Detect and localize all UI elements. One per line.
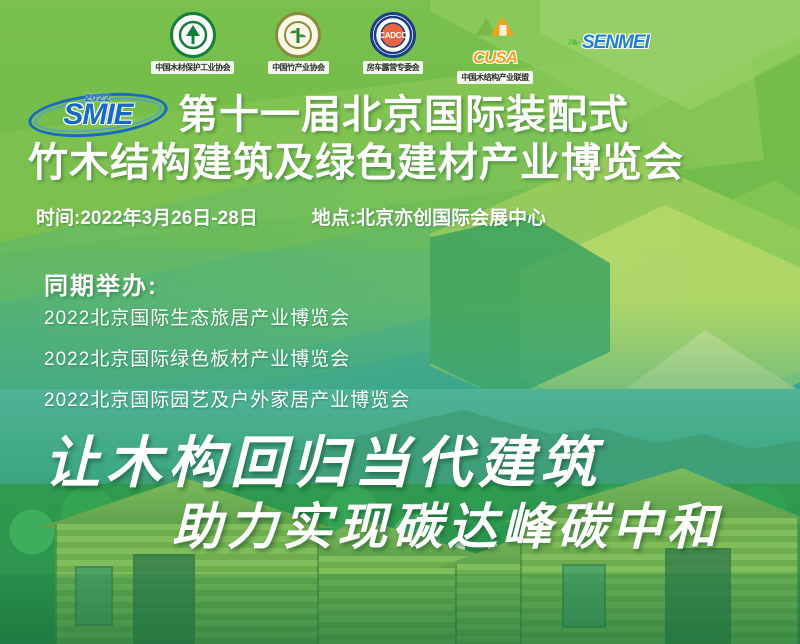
event-poster: 中国木材保护工业协会 中国竹产业协会 CADCC bbox=[0, 0, 800, 644]
concurrent-heading: 同期举办: bbox=[44, 266, 158, 301]
smie-year: 2022 bbox=[85, 93, 111, 104]
concurrent-event-list: 2022北京国际生态旅居产业博览会 2022北京国际绿色板材产业博览会 2022… bbox=[44, 303, 410, 412]
page-title-line2: 竹木结构建筑及绿色建材产业博览会 bbox=[28, 140, 684, 186]
page-title-line1: 第十一届北京国际装配式 bbox=[178, 93, 629, 137]
smie-logo: 2022 SMIE bbox=[28, 92, 168, 138]
slogan-line2: 助力实现碳达峰碳中和 bbox=[172, 487, 722, 559]
event-date: 时间:2022年3月26日-28日 bbox=[36, 203, 258, 230]
title-row: 2022 SMIE 第十一届北京国际装配式 bbox=[28, 92, 629, 138]
poster-content: 2022 SMIE 第十一届北京国际装配式 竹木结构建筑及绿色建材产业博览会 时… bbox=[0, 0, 800, 644]
concurrent-event-item: 2022北京国际园艺及户外家居产业博览会 bbox=[44, 385, 410, 412]
concurrent-event-item: 2022北京国际生态旅居产业博览会 bbox=[44, 303, 410, 330]
concurrent-event-item: 2022北京国际绿色板材产业博览会 bbox=[44, 344, 410, 371]
event-venue: 地点:北京亦创国际会展中心 bbox=[312, 203, 546, 230]
event-meta: 时间:2022年3月26日-28日 地点:北京亦创国际会展中心 bbox=[36, 203, 546, 230]
